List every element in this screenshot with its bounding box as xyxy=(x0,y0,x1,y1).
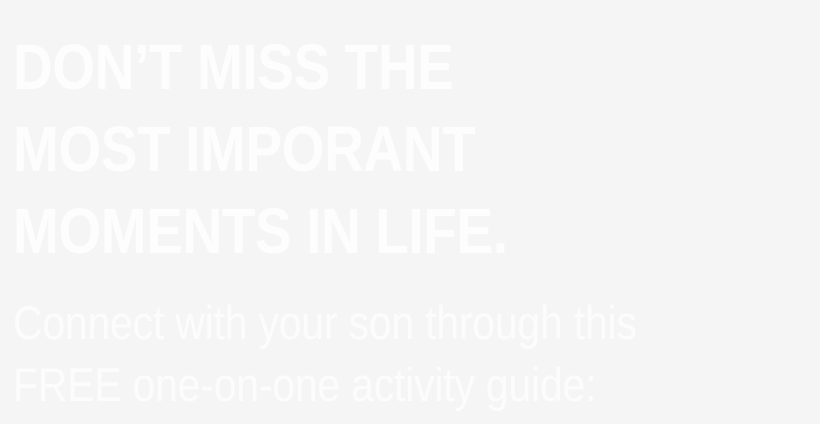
headline-line-1: DON’T MISS THE xyxy=(13,26,701,108)
subheading-block: Connect with your son through this FREE … xyxy=(13,292,819,416)
headline-block: DON’T MISS THE MOST IMPORANT MOMENTS IN … xyxy=(13,26,813,272)
subheading-line-2: FREE one-on-one activity guide: xyxy=(13,354,714,416)
subheading-line-1: Connect with your son through this xyxy=(13,292,714,354)
headline-line-3: MOMENTS IN LIFE. xyxy=(13,190,701,272)
headline-line-2: MOST IMPORANT xyxy=(13,108,701,190)
promo-banner: DON’T MISS THE MOST IMPORANT MOMENTS IN … xyxy=(0,0,820,424)
